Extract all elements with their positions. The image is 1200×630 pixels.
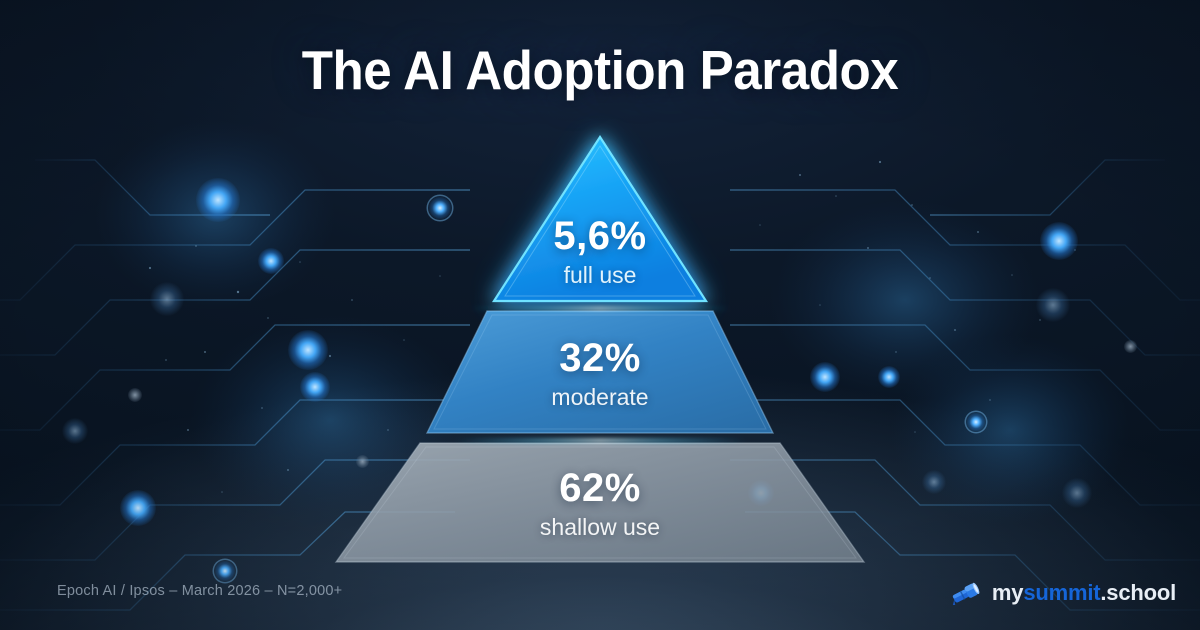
adoption-pyramid-chart: 5,6% full use 32% moderate 62% shallow u… — [0, 0, 1200, 630]
tier-percent-full-use: 5,6% — [340, 216, 860, 256]
logo-text-summit: summit — [1023, 580, 1100, 605]
tier-label-shallow-use: 62% shallow use — [340, 468, 860, 539]
brand-logo[interactable]: mysummit.school — [949, 581, 1176, 605]
telescope-icon — [949, 581, 983, 605]
logo-text-my: my — [992, 580, 1023, 605]
logo-text-tld: .school — [1100, 580, 1176, 605]
tier-name-moderate: moderate — [340, 386, 860, 409]
tier-name-shallow-use: shallow use — [340, 516, 860, 539]
tier-base-top-glow — [455, 439, 745, 442]
tier-name-full-use: full use — [340, 264, 860, 287]
tier-percent-moderate: 32% — [340, 338, 860, 378]
infographic-canvas: The AI Adoption Paradox — [0, 0, 1200, 630]
source-citation: Epoch AI / Ipsos – March 2026 – N=2,000+ — [57, 583, 342, 599]
logo-wordmark: mysummit.school — [992, 582, 1176, 604]
tier-label-full-use: 5,6% full use — [340, 216, 860, 287]
tier-percent-shallow-use: 62% — [340, 468, 860, 508]
tier-label-moderate: 32% moderate — [340, 338, 860, 409]
tier-middle-top-glow — [470, 307, 730, 310]
